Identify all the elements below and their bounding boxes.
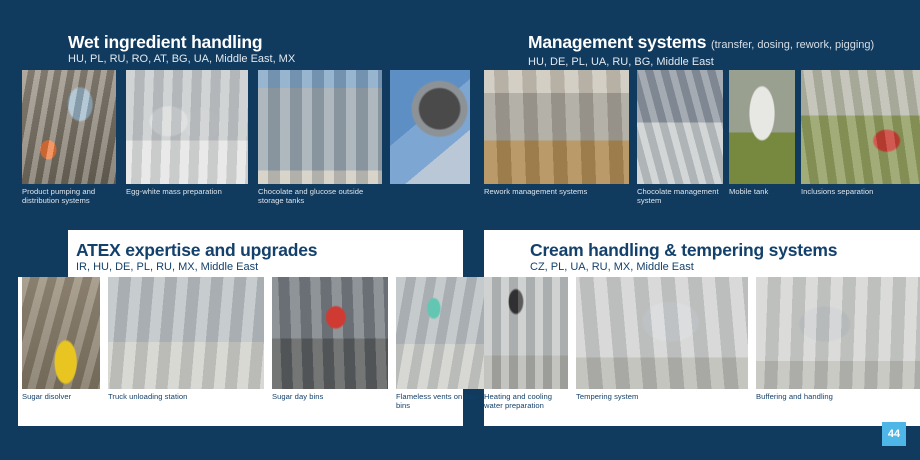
section-title-atex-expertise: ATEX expertise and upgrades xyxy=(76,240,317,260)
sugar-disolver-photo xyxy=(22,277,100,389)
tempering-system-photo xyxy=(576,277,748,389)
section-title-cream-handling: Cream handling & tempering systems xyxy=(530,240,837,260)
photo-card-heating-cooling-water[interactable]: Heating and cooling water preparation xyxy=(484,277,568,411)
page-number-badge: 44 xyxy=(882,422,906,446)
photo-caption-inclusions-separation: Inclusions separation xyxy=(801,188,920,197)
section-title-wet-ingredient-handling: Wet ingredient handling xyxy=(68,32,295,52)
section-countries-cream-handling: CZ, PL, UA, RU, MX, Middle East xyxy=(530,260,837,274)
heating-cooling-water-photo xyxy=(484,277,568,389)
photo-card-storage-tanks[interactable]: Chocolate and glucose outside storage ta… xyxy=(258,70,382,206)
photo-card-egg-white-mass[interactable]: Egg-white mass preparation xyxy=(126,70,248,197)
photo-card-buffering-handling[interactable]: Buffering and handling xyxy=(756,277,920,402)
section-header-atex-expertise: ATEX expertise and upgrades IR, HU, DE, … xyxy=(76,240,317,274)
photo-caption-flameless-vents: Flameless vents on bay bins xyxy=(396,393,486,411)
photo-card-truck-unloading[interactable]: Truck unloading station xyxy=(108,277,264,402)
chocolate-management-photo xyxy=(637,70,723,184)
photo-card-vessel-inspection[interactable] xyxy=(390,70,470,184)
photo-card-inclusions-separation[interactable]: Inclusions separation xyxy=(801,70,920,197)
section-title-management-systems: Management systems (transfer, dosing, re… xyxy=(528,32,874,55)
photo-caption-chocolate-management: Chocolate management system xyxy=(637,188,723,206)
photo-caption-tempering-system: Tempering system xyxy=(576,393,748,402)
section-header-wet-ingredient-handling: Wet ingredient handling HU, PL, RU, RO, … xyxy=(68,32,295,66)
photo-card-rework-management[interactable]: Rework management systems xyxy=(484,70,629,197)
photo-card-flameless-vents[interactable]: Flameless vents on bay bins xyxy=(396,277,486,411)
section-header-management-systems: Management systems (transfer, dosing, re… xyxy=(528,32,874,69)
section-title-suffix-management-systems: (transfer, dosing, rework, pigging) xyxy=(711,39,874,51)
photo-card-chocolate-management[interactable]: Chocolate management system xyxy=(637,70,723,206)
photo-caption-sugar-day-bins: Sugar day bins xyxy=(272,393,388,402)
storage-tanks-photo xyxy=(258,70,382,184)
photo-row-wet-ingredient-handling: Product pumping and distribution systems… xyxy=(22,70,470,190)
slide-canvas: Wet ingredient handling HU, PL, RU, RO, … xyxy=(0,0,920,460)
rework-management-photo xyxy=(484,70,629,184)
photo-card-sugar-day-bins[interactable]: Sugar day bins xyxy=(272,277,388,402)
section-countries-management-systems: HU, DE, PL, UA, RU, BG, Middle East xyxy=(528,55,874,69)
buffering-handling-photo xyxy=(756,277,920,389)
product-pumping-photo xyxy=(22,70,116,184)
photo-caption-storage-tanks: Chocolate and glucose outside storage ta… xyxy=(258,188,382,206)
mobile-tank-photo xyxy=(729,70,795,184)
section-countries-atex-expertise: IR, HU, DE, PL, RU, MX, Middle East xyxy=(76,260,317,274)
truck-unloading-photo xyxy=(108,277,264,389)
photo-caption-buffering-handling: Buffering and handling xyxy=(756,393,920,402)
vessel-inspection-photo xyxy=(390,70,470,184)
photo-card-mobile-tank[interactable]: Mobile tank xyxy=(729,70,795,197)
inclusions-separation-photo xyxy=(801,70,920,184)
photo-row-atex-expertise: Sugar disolver Truck unloading station S… xyxy=(22,277,470,397)
photo-card-product-pumping[interactable]: Product pumping and distribution systems xyxy=(22,70,116,206)
photo-row-management-systems: Rework management systems Chocolate mana… xyxy=(484,70,920,190)
photo-caption-mobile-tank: Mobile tank xyxy=(729,188,795,197)
flameless-vents-photo xyxy=(396,277,486,389)
egg-white-mass-photo xyxy=(126,70,248,184)
photo-caption-egg-white-mass: Egg-white mass preparation xyxy=(126,188,248,197)
photo-card-sugar-disolver[interactable]: Sugar disolver xyxy=(22,277,100,402)
section-countries-wet-ingredient-handling: HU, PL, RU, RO, AT, BG, UA, Middle East,… xyxy=(68,52,295,66)
photo-caption-product-pumping: Product pumping and distribution systems xyxy=(22,188,116,206)
photo-caption-heating-cooling-water: Heating and cooling water preparation xyxy=(484,393,568,411)
photo-caption-rework-management: Rework management systems xyxy=(484,188,629,197)
section-header-cream-handling: Cream handling & tempering systems CZ, P… xyxy=(530,240,837,274)
photo-caption-sugar-disolver: Sugar disolver xyxy=(22,393,100,402)
photo-row-cream-handling: Heating and cooling water preparation Te… xyxy=(484,277,920,397)
photo-card-tempering-system[interactable]: Tempering system xyxy=(576,277,748,402)
sugar-day-bins-photo xyxy=(272,277,388,389)
photo-caption-truck-unloading: Truck unloading station xyxy=(108,393,264,402)
